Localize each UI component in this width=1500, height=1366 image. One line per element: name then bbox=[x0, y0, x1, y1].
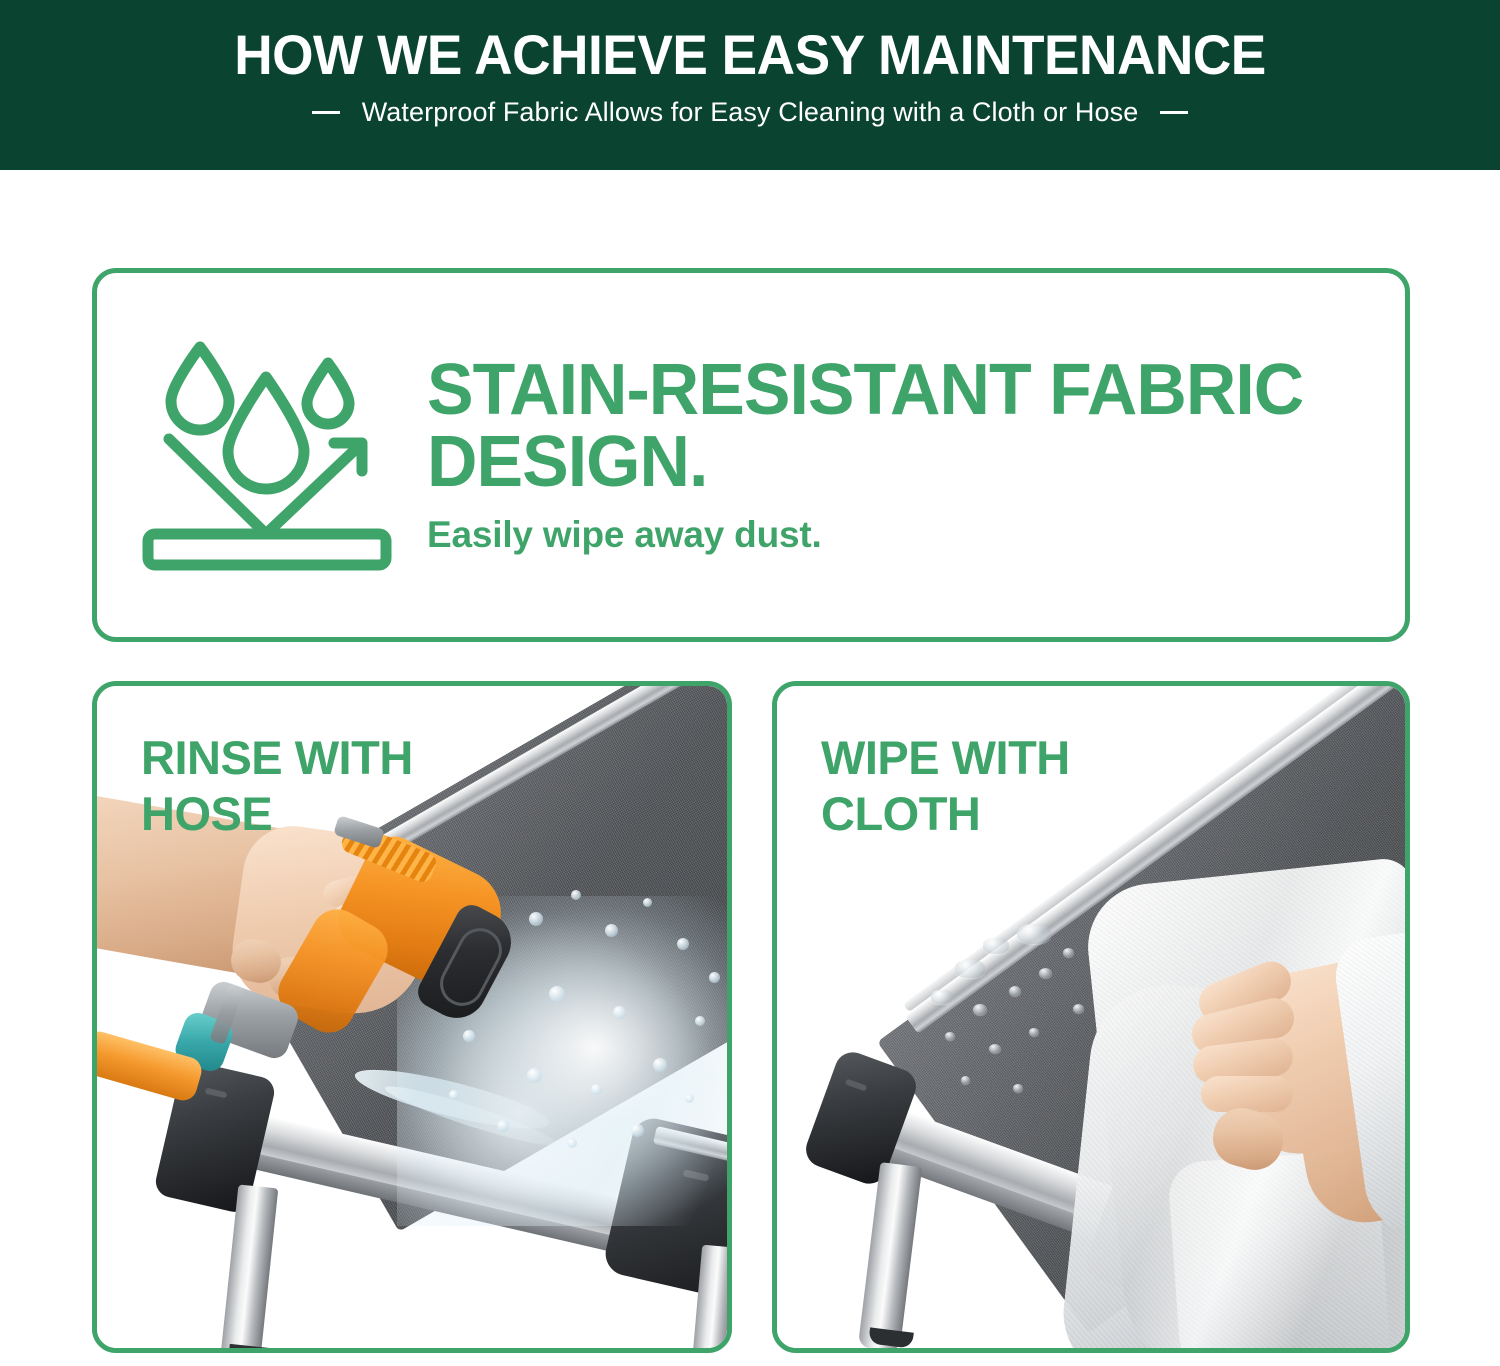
wipe-with-cloth-card: WIPE WITH CLOTH bbox=[772, 681, 1410, 1353]
dash-right-icon bbox=[1160, 111, 1188, 114]
water-bead bbox=[1013, 1084, 1023, 1092]
splash-droplet bbox=[527, 1068, 542, 1083]
water-bead bbox=[1063, 948, 1074, 957]
splash-droplet bbox=[695, 1016, 705, 1026]
stain-text-block: STAIN-RESISTANT FABRIC DESIGN. Easily wi… bbox=[427, 354, 1405, 556]
splash-droplet bbox=[653, 1058, 667, 1072]
splash-droplet bbox=[685, 1094, 694, 1103]
water-bead bbox=[989, 1044, 1001, 1053]
water-bead bbox=[931, 990, 953, 1004]
finger bbox=[1201, 1076, 1293, 1112]
splash-droplet bbox=[709, 972, 720, 983]
water-repellent-fabric-icon bbox=[138, 335, 396, 575]
stain-card-title: STAIN-RESISTANT FABRIC DESIGN. bbox=[427, 354, 1337, 498]
rinse-card-heading: RINSE WITH HOSE bbox=[141, 730, 413, 842]
splash-droplet bbox=[613, 1006, 626, 1019]
header-banner: HOW WE ACHIEVE EASY MAINTENANCE Waterpro… bbox=[0, 0, 1500, 170]
splash-droplet bbox=[497, 1120, 509, 1132]
splash-droplet bbox=[463, 1030, 475, 1042]
splash-droplet bbox=[529, 912, 543, 926]
header-subtitle-row: Waterproof Fabric Allows for Easy Cleani… bbox=[0, 96, 1500, 128]
infographic-page: HOW WE ACHIEVE EASY MAINTENANCE Waterpro… bbox=[0, 0, 1500, 1366]
splash-droplet bbox=[631, 1124, 644, 1137]
stain-icon-container bbox=[97, 335, 427, 575]
water-bead bbox=[983, 938, 1009, 954]
stain-resistant-card: STAIN-RESISTANT FABRIC DESIGN. Easily wi… bbox=[92, 268, 1410, 642]
water-bead bbox=[961, 1076, 970, 1084]
stain-card-content: STAIN-RESISTANT FABRIC DESIGN. Easily wi… bbox=[97, 273, 1405, 637]
page-title: HOW WE ACHIEVE EASY MAINTENANCE bbox=[38, 24, 1463, 86]
rinse-with-hose-card: RINSE WITH HOSE bbox=[92, 681, 732, 1353]
water-bead bbox=[1009, 986, 1021, 996]
water-bead bbox=[955, 960, 985, 978]
dash-left-icon bbox=[312, 111, 340, 114]
splash-droplet bbox=[549, 986, 565, 1002]
surface-bar-icon bbox=[148, 534, 386, 565]
wipe-card-heading: WIPE WITH CLOTH bbox=[821, 730, 1070, 842]
page-subtitle: Waterproof Fabric Allows for Easy Cleani… bbox=[362, 96, 1139, 128]
water-bead bbox=[1073, 1004, 1084, 1013]
splash-droplet bbox=[591, 1084, 602, 1095]
water-bead bbox=[945, 1032, 955, 1040]
water-bead bbox=[1029, 1028, 1039, 1036]
bed-leg-left bbox=[858, 1162, 922, 1348]
splash-droplet bbox=[605, 924, 618, 937]
water-bead bbox=[1039, 968, 1052, 978]
splash-droplet bbox=[449, 1090, 459, 1100]
splash-droplet bbox=[571, 890, 581, 900]
water-bead bbox=[973, 1004, 987, 1015]
splash-droplet bbox=[567, 1138, 577, 1148]
splash-droplet bbox=[677, 938, 689, 950]
water-bead bbox=[1017, 924, 1051, 944]
splash-droplet bbox=[643, 898, 652, 907]
stain-card-subtitle: Easily wipe away dust. bbox=[427, 514, 1365, 556]
